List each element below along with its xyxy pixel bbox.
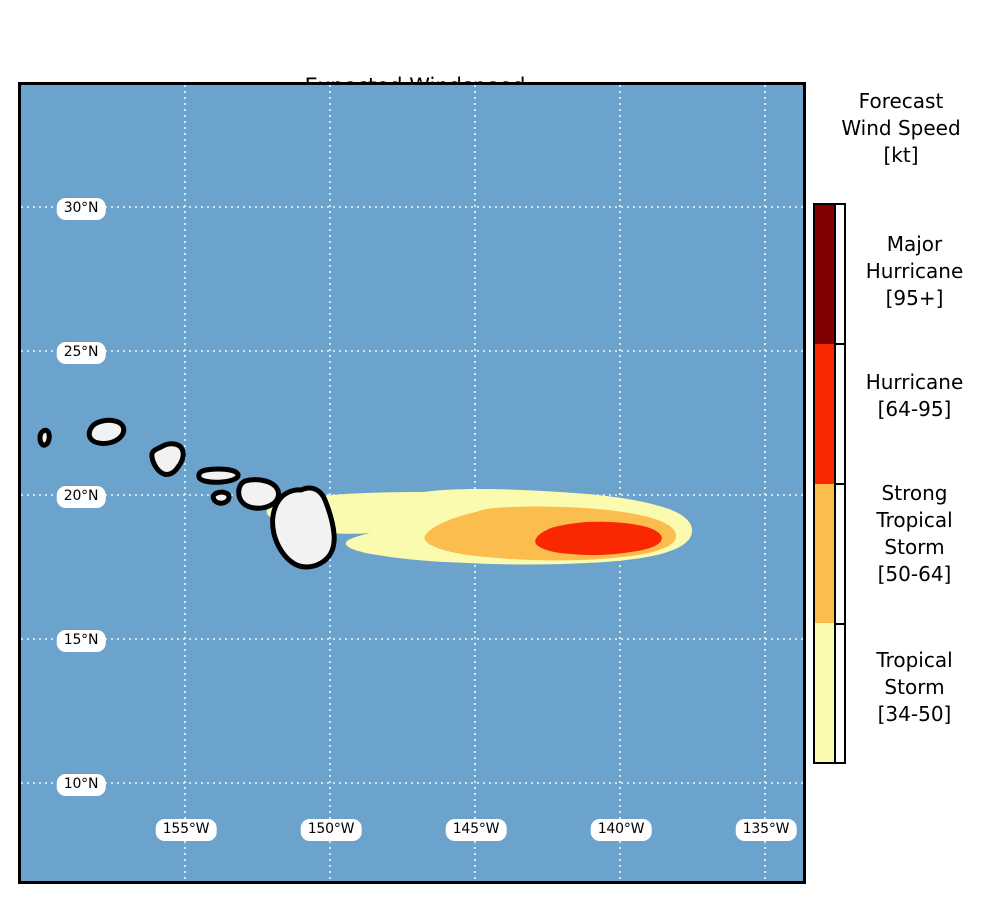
lat-label-10n: 10°N [57,774,106,796]
legend-hurricane-line-1: Hurricane [840,369,989,396]
colorbar-title: Forecast Wind Speed [kt] [813,88,989,169]
lat-label-15n: 15°N [57,630,106,652]
lat-label-25n: 25°N [57,342,106,364]
legend-major-hurricane-line-2: Hurricane [840,258,989,285]
colorbar-band-tropical-storm[interactable] [815,623,834,762]
legend-major-hurricane-line-3: [95+] [840,285,989,312]
colorbar[interactable] [813,203,836,764]
lon-label-155w: 155°W [156,819,217,841]
legend-strong-tropical-storm-line-2: Tropical [840,507,989,534]
legend-strong-tropical-storm-line-3: Storm [840,534,989,561]
island-oahu [152,444,183,475]
colorbar-title-line-2: Wind Speed [813,115,989,142]
island-hawaii [273,488,335,567]
colorbar-gradient-bar[interactable] [813,203,836,764]
lon-label-135w: 135°W [736,819,797,841]
legend-label-major-hurricane: Major Hurricane [95+] [840,231,989,312]
lat-label-30n: 30°N [57,198,106,220]
island-niihau [40,430,49,445]
colorbar-band-strong-tropical-storm[interactable] [815,484,834,623]
lat-label-20n: 20°N [57,486,106,508]
lon-label-145w: 145°W [446,819,507,841]
map-plot-area[interactable]: 30°N 25°N 20°N 15°N 10°N 155°W 150°W 145… [18,82,806,884]
island-kauai [89,420,124,443]
legend-major-hurricane-line-1: Major [840,231,989,258]
colorbar-tick-34 [836,762,845,764]
legend-tropical-storm-line-3: [34-50] [840,701,989,728]
island-maui [239,480,279,509]
island-molokai [199,469,238,482]
legend-label-tropical-storm: Tropical Storm [34-50] [840,647,989,728]
colorbar-tick-50 [836,623,845,625]
colorbar-band-hurricane[interactable] [815,344,834,483]
lon-label-140w: 140°W [591,819,652,841]
colorbar-title-line-3: [kt] [813,142,989,169]
legend-strong-tropical-storm-line-1: Strong [840,480,989,507]
colorbar-title-line-1: Forecast [813,88,989,115]
legend-tropical-storm-line-2: Storm [840,674,989,701]
legend-strong-tropical-storm-line-4: [50-64] [840,561,989,588]
legend-tropical-storm-line-1: Tropical [840,647,989,674]
legend-hurricane-line-2: [64-95] [840,396,989,423]
island-lanai [213,492,229,503]
colorbar-band-major-hurricane[interactable] [815,205,834,344]
colorbar-tick-top [836,203,845,205]
map-canvas [21,85,803,881]
colorbar-tick-95 [836,343,845,345]
legend-label-hurricane: Hurricane [64-95] [840,369,989,423]
ocean-background [21,85,803,881]
legend-label-strong-tropical-storm: Strong Tropical Storm [50-64] [840,480,989,588]
lon-label-150w: 150°W [301,819,362,841]
